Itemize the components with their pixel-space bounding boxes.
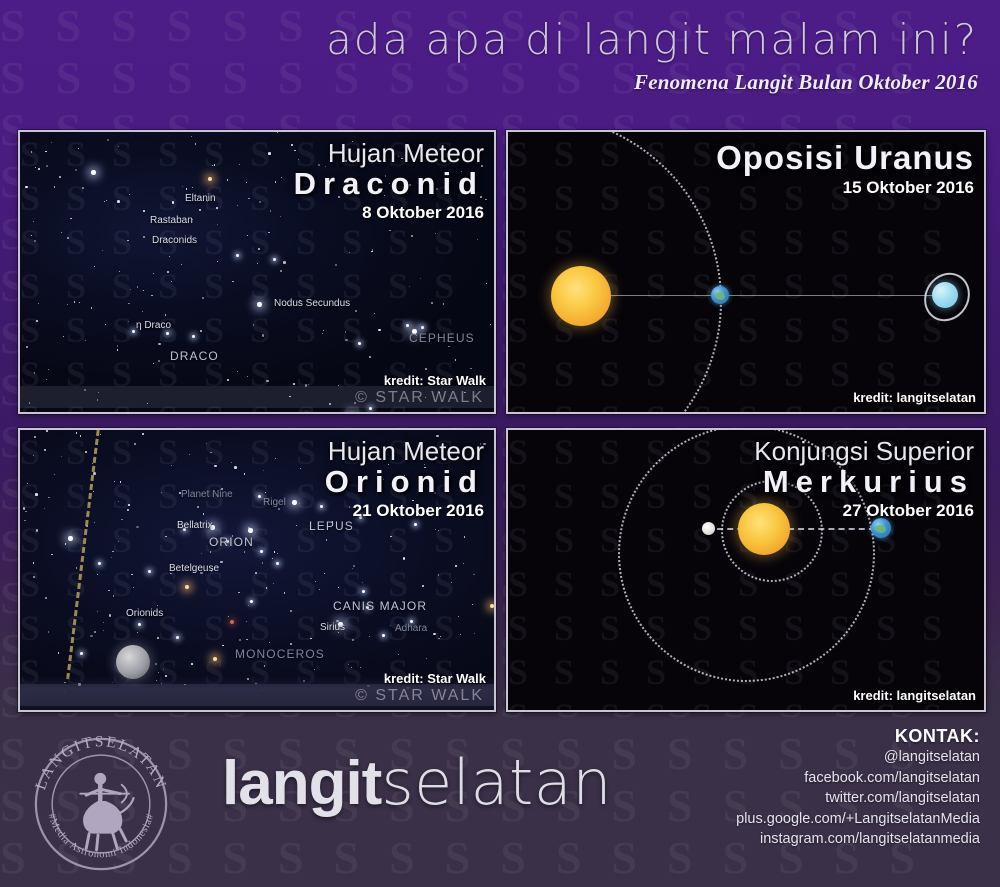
panel-date: 8 Oktober 2016 (294, 203, 484, 223)
star-label: Adhara (395, 623, 427, 634)
star-label: DRACO (170, 349, 219, 363)
contact-line-4[interactable]: instagram.com/langitselatanmedia (736, 829, 980, 850)
panel-kicker: Konjungsi Superior (754, 438, 974, 465)
star-label: MONOCEROS (235, 647, 325, 661)
star-label: Rastaban (150, 215, 193, 226)
moon-icon (116, 645, 150, 679)
star-label: η Draco (136, 320, 171, 331)
star-label: CANIS MAJOR (333, 599, 427, 613)
star-label: Orionids (126, 608, 163, 619)
panel-kicker: Hujan Meteor (325, 438, 484, 465)
panel-name: Orionid (325, 465, 484, 499)
panel-name: Draconid (294, 167, 484, 201)
brand-thin: selatan (381, 746, 612, 819)
star-label: Sirius (320, 622, 345, 633)
contact-line-1[interactable]: facebook.com/langitselatan (736, 768, 980, 789)
page-title: ada apa di langit malam ini? (0, 16, 978, 64)
panel-kicker: Hujan Meteor (294, 140, 484, 167)
poster-root: SSSSSSSSSSSSSSSSSSSSSSSSSSSSSSSSSSSSSSSS… (0, 0, 1000, 887)
earth-body (871, 518, 891, 538)
earth-body (711, 286, 729, 304)
alignment-line (596, 295, 946, 296)
star-label: Draconids (152, 235, 197, 246)
header: ada apa di langit malam ini? Fenomena La… (0, 16, 978, 95)
contact-links: @langitselatanfacebook.com/langitselatan… (736, 747, 980, 850)
star-label: ORION (209, 535, 254, 549)
contact-line-2[interactable]: twitter.com/langitselatan (736, 788, 980, 809)
panel-credit: kredit: Star Walk (384, 671, 486, 686)
panel-credit: kredit: Star Walk (384, 373, 486, 388)
panel-heading-merkurius: Konjungsi Superior Merkurius 27 Oktober … (754, 438, 974, 521)
panel-date: 15 Oktober 2016 (716, 178, 974, 198)
langitselatan-seal-logo: LANGITSELATAN #Media Astronomi Indonesia… (27, 730, 175, 878)
panel-heading-uranus: Oposisi Uranus 15 Oktober 2016 (716, 140, 974, 198)
star-label: Nodus Secundus (274, 298, 350, 309)
contact-line-0[interactable]: @langitselatan (736, 747, 980, 768)
brand-bold: langit (222, 749, 381, 818)
panel-orionid[interactable]: SSSSSSSSSSSSSSSSSSSSSSSSSSSSSSSSSSSSSSSS… (18, 428, 496, 712)
panel-oposisi-uranus[interactable]: SSSSSSSSSSSSSSSSSSSSSSSSSSSSSSSSSSSSSSSS… (506, 130, 986, 414)
star-label: Betelgeuse (169, 563, 219, 574)
panel-name: Merkurius (754, 465, 974, 499)
panel-konjungsi-merkurius[interactable]: SSSSSSSSSSSSSSSSSSSSSSSSSSSSSSSSSSSSSSSS… (506, 428, 986, 712)
mercury-body (702, 522, 715, 535)
alignment-line (707, 528, 885, 530)
panel-credit: kredit: langitselatan (853, 688, 976, 703)
panel-date: 21 Oktober 2016 (325, 501, 484, 521)
panel-draconid[interactable]: SSSSSSSSSSSSSSSSSSSSSSSSSSSSSSSSSSSSSSSS… (18, 130, 496, 414)
panel-name: Oposisi Uranus (716, 140, 974, 176)
starwalk-watermark: © STAR WALK (355, 389, 484, 407)
star-label: Rigel (263, 497, 286, 508)
star-label: CEPHEUS (409, 331, 475, 345)
contact-block: KONTAK: @langitselatanfacebook.com/langi… (736, 726, 980, 850)
brand-wordmark: langitselatan (222, 752, 612, 815)
panel-date: 27 Oktober 2016 (754, 501, 974, 521)
panel-heading-orionid: Hujan Meteor Orionid 21 Oktober 2016 (325, 438, 484, 521)
star-label: LEPUS (309, 519, 354, 533)
panel-credit: kredit: langitselatan (853, 390, 976, 405)
star-label: Bellatrix (177, 520, 213, 531)
page-subtitle: Fenomena Langit Bulan Oktober 2016 (0, 70, 978, 95)
sun-body (551, 266, 611, 326)
starwalk-watermark: © STAR WALK (355, 687, 484, 705)
centaur-archer-icon (80, 773, 133, 850)
contact-line-3[interactable]: plus.google.com/+LangitselatanMedia (736, 809, 980, 830)
panel-heading-draconid: Hujan Meteor Draconid 8 Oktober 2016 (294, 140, 484, 223)
star-label: Planet Nine (181, 489, 233, 500)
contact-title: KONTAK: (736, 726, 980, 747)
star-label: Eltanin (185, 193, 216, 204)
